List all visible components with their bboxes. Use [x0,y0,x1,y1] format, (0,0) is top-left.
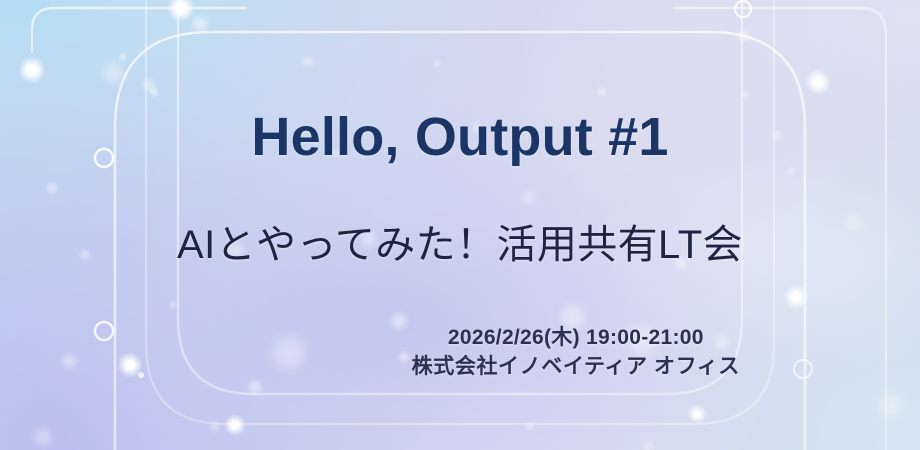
event-datetime: 2026/2/26(木) 19:00-21:00 [412,324,740,352]
poster-content: Hello, Output #1 AIとやってみた！活用共有LT会 2026/2… [0,0,920,450]
page-title: Hello, Output #1 [0,106,920,168]
page-subtitle: AIとやってみた！活用共有LT会 [0,212,920,270]
event-poster: Hello, Output #1 AIとやってみた！活用共有LT会 2026/2… [0,0,920,450]
event-venue: 株式会社イノベイティア オフィス [412,352,740,382]
event-meta: 2026/2/26(木) 19:00-21:00 株式会社イノベイティア オフィ… [412,324,740,383]
